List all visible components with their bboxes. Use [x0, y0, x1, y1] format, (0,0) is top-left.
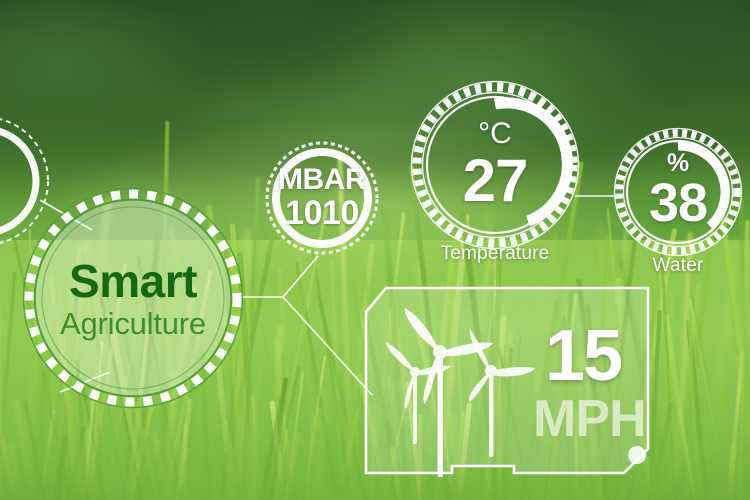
gauge-pressure-unit: MBAR	[278, 165, 366, 196]
gauge-temperature-unit: °C	[478, 119, 512, 149]
screenshot-root: Smart Agriculture MBAR 1010 °C 27 Temper…	[0, 0, 750, 500]
wind-panel-corner-dot	[628, 446, 646, 464]
connector-node-to-wind	[283, 297, 372, 395]
gauge-water-unit: %	[667, 151, 689, 176]
gauge-water-readout: % 38	[628, 135, 728, 245]
hud-overlay: Smart Agriculture MBAR 1010 °C 27 Temper…	[0, 0, 750, 500]
wind-speed-value: 15	[545, 320, 621, 392]
gauge-temperature-label: Temperature	[415, 243, 575, 265]
gauge-pressure-value: 1010	[285, 196, 359, 231]
brand-line-2: Agriculture	[60, 308, 206, 339]
connector-node-to-pressure	[283, 256, 318, 297]
gauge-water-label: Water	[618, 255, 738, 277]
gauge-temperature-readout: °C 27	[435, 100, 555, 230]
wind-speed-unit: MPH	[533, 393, 646, 445]
gauge-temperature-value: 27	[463, 151, 528, 211]
gauge-pressure-readout: MBAR 1010	[265, 152, 379, 244]
smart-agriculture-text-block: Smart Agriculture	[28, 193, 238, 403]
brand-line-1: Smart	[69, 258, 197, 304]
gauge-water-value: 38	[649, 176, 707, 230]
